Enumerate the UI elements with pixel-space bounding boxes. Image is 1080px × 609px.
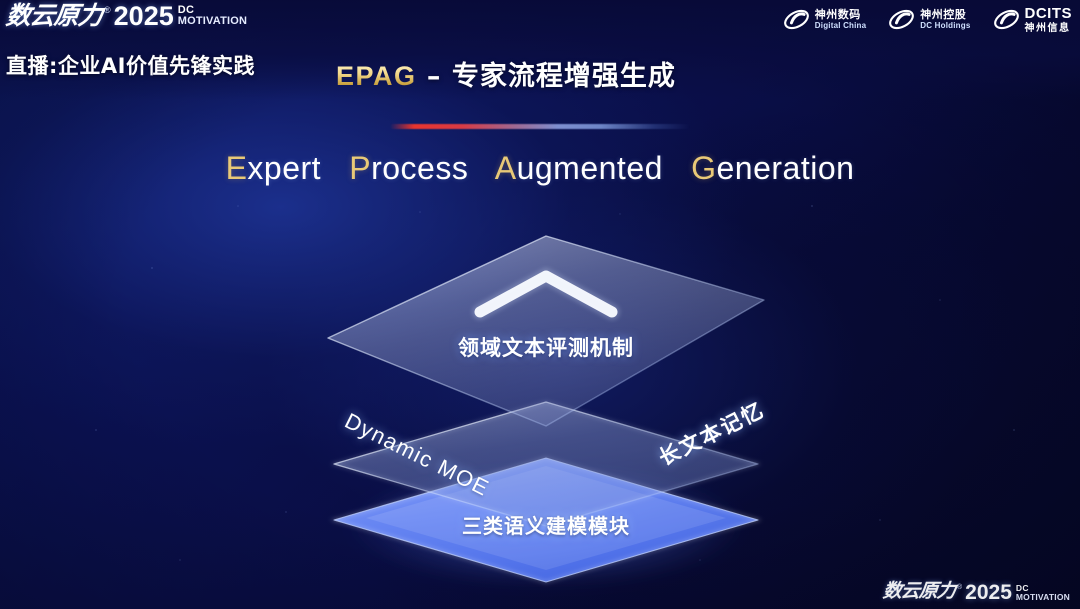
page-title-chinese: – 专家流程增强生成: [417, 61, 676, 92]
title-divider: [390, 124, 690, 129]
subtitle-space: [478, 150, 487, 186]
logo-label-en: Digital China: [815, 22, 867, 31]
brand-watermark-bottom-right: 数云原力 ® 2025 DC MOTIVATION: [883, 582, 1070, 603]
brand-registered-mark: ®: [104, 6, 111, 15]
watermark-registered-mark: ®: [957, 584, 962, 591]
swirl-logo-icon: [993, 6, 1020, 33]
swirl-logo-icon: [888, 6, 915, 33]
subtitle-word: Augmented: [495, 150, 663, 186]
logo-dcits: DCITS 神州信息: [993, 6, 1073, 34]
subtitle-word: Expert: [226, 150, 321, 186]
logo-label-cn: 神州控股: [920, 9, 970, 21]
layered-architecture-diagram: 领域文本评测机制 Dynamic MOE 长文本记忆 三类语义建模模块: [296, 226, 796, 592]
logo-label-en: DCITS: [1025, 6, 1073, 23]
logo-dc-holdings: 神州控股 DC Holdings: [888, 6, 970, 33]
slide-root: 数云原力 ® 2025 DC MOTIVATION 直播:企业AI价值先锋实践 …: [0, 0, 1080, 609]
subtitle-space: [672, 150, 681, 186]
diagram-layer-top[interactable]: [328, 236, 764, 426]
subtitle-rest: ugmented: [517, 150, 663, 186]
brand-logo-top-left: 数云原力 ® 2025 DC MOTIVATION: [6, 3, 247, 30]
watermark-dc-line2: MOTIVATION: [1016, 593, 1070, 602]
logo-label-en: DC Holdings: [920, 22, 970, 31]
logo-label-cn: 神州信息: [1025, 23, 1073, 34]
stack-svg: [296, 226, 796, 592]
subtitle-expansion: Expert Process Augmented Generation: [0, 150, 1080, 187]
swirl-logo-icon: [783, 6, 810, 33]
brand-dc-motivation: DC MOTIVATION: [178, 5, 247, 27]
logo-label-cn: 神州数码: [815, 9, 867, 21]
logo-digital-china: 神州数码 Digital China: [783, 6, 867, 33]
brand-dc-line2: MOTIVATION: [178, 16, 247, 27]
page-title-acronym: EPAG: [336, 61, 417, 91]
subtitle-word: Generation: [691, 150, 854, 186]
subtitle-space: [330, 150, 339, 186]
subtitle-capital: A: [495, 150, 517, 186]
subtitle-word: Process: [349, 150, 468, 186]
watermark-dc-motivation: DC MOTIVATION: [1016, 584, 1070, 601]
page-title: EPAG – 专家流程增强生成: [336, 54, 676, 93]
live-stream-title: 直播:企业AI价值先锋实践: [6, 50, 255, 80]
partner-logo-group: 神州数码 Digital China 神州控股 DC Holdings DCIT…: [783, 6, 1072, 34]
brand-chinese-name: 数云原力: [5, 3, 104, 28]
top-layer-surface: [328, 236, 764, 426]
subtitle-capital: E: [226, 150, 248, 186]
watermark-chinese-name: 数云原力: [882, 582, 956, 601]
subtitle-capital: G: [691, 150, 716, 186]
brand-year: 2025: [114, 3, 174, 30]
subtitle-rest: xpert: [247, 150, 321, 186]
subtitle-capital: P: [349, 150, 371, 186]
subtitle-rest: eneration: [716, 150, 854, 186]
subtitle-rest: rocess: [371, 150, 468, 186]
watermark-year: 2025: [965, 582, 1012, 603]
